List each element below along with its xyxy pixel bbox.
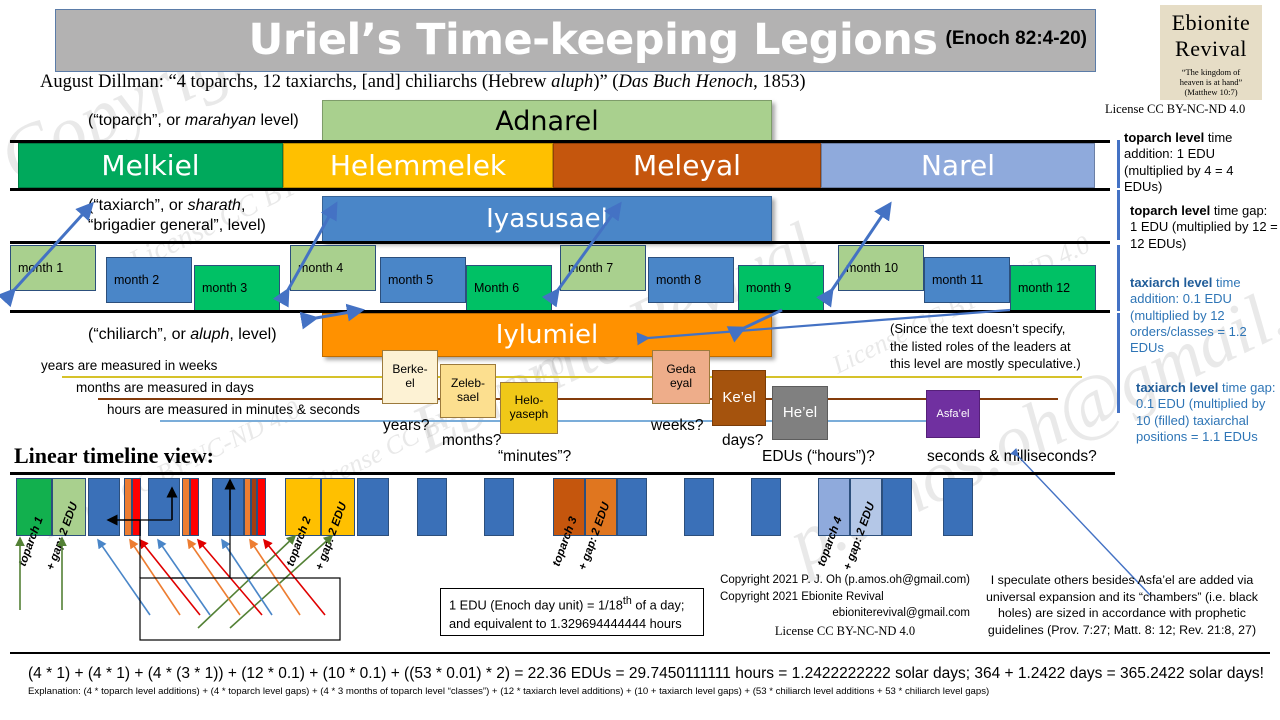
edu-definition-box: 1 EDU (Enoch day unit) = 1/18th of a day… bbox=[440, 588, 704, 636]
toparch-narel[interactable]: Narel bbox=[821, 143, 1095, 188]
dillman-citation: August Dillman: “4 toparchs, 12 taxiarch… bbox=[40, 72, 1100, 93]
leader-adnarel-label: Adnarel bbox=[495, 106, 598, 137]
toparch-helemmelek-label: Helemmelek bbox=[330, 149, 506, 182]
edu-line-1-sup: th bbox=[623, 595, 632, 607]
citation-suffix: , 1853) bbox=[753, 72, 805, 92]
page-title-banner: Uriel’s Time-keeping Legions (Enoch 82:4… bbox=[55, 9, 1096, 72]
toparch-melkiel[interactable]: Melkiel bbox=[18, 143, 283, 188]
toparch-label-italic: marahyan bbox=[185, 112, 256, 129]
toparch-gap-bracket bbox=[1117, 190, 1120, 240]
formula-explanation: Explanation: (4 * toparch level addition… bbox=[28, 686, 989, 697]
citation-middle: )” ( bbox=[593, 72, 618, 92]
title-scripture-reference: (Enoch 82:4-20) bbox=[946, 28, 1087, 54]
note-taxiarch-addition-title: taxiarch level bbox=[1130, 275, 1212, 290]
license-top: License CC BY-NC-ND 4.0 bbox=[1105, 102, 1245, 117]
toparch-narel-label: Narel bbox=[921, 149, 995, 182]
toparch-melkiel-label: Melkiel bbox=[101, 149, 199, 182]
copyright-line-3: ebioniterevival@gmail.com bbox=[720, 605, 970, 622]
edu-line-2: and equivalent to 1.329694444444 hours bbox=[449, 615, 695, 634]
copyright-line-1: Copyright 2021 P. J. Oh (p.amos.oh@gmail… bbox=[720, 572, 970, 589]
chiliarch-arrows bbox=[0, 300, 1120, 430]
toparch-meleyal-label: Meleyal bbox=[633, 149, 741, 182]
copyright-line-2: Copyright 2021 Ebionite Revival bbox=[720, 589, 970, 606]
edu-line-1a: 1 EDU (Enoch day unit) = 1/18 bbox=[449, 597, 623, 612]
formula-line: (4 * 1) + (4 * 1) + (4 * (3 * 1)) + (12 … bbox=[28, 665, 1264, 683]
note-taxiarch-gap-title: taxiarch level bbox=[1136, 380, 1218, 395]
toparch-label-pre: (“toparch”, or bbox=[88, 112, 185, 129]
toparch-label-post: level) bbox=[256, 112, 299, 129]
page-title: Uriel’s Time-keeping Legions bbox=[248, 19, 937, 62]
note-taxiarch-addition: taxiarch level time addition: 0.1 EDU (m… bbox=[1130, 275, 1278, 356]
copyright-license: License CC BY-NC-ND 4.0 bbox=[720, 622, 970, 640]
logo-tagline: “The kingdom of heaven is at hand” (Matt… bbox=[1160, 67, 1262, 97]
edu-line-1: 1 EDU (Enoch day unit) = 1/18th of a day… bbox=[449, 594, 695, 615]
toparch-meleyal[interactable]: Meleyal bbox=[553, 143, 821, 188]
note-toparch-addition-title: toparch level bbox=[1124, 130, 1204, 145]
leader-adnarel[interactable]: Adnarel bbox=[322, 100, 772, 142]
toparch-level-label: (“toparch”, or marahyan level) bbox=[88, 111, 299, 131]
note-toparch-gap: toparch level time gap: 1 EDU (multiplie… bbox=[1130, 203, 1278, 252]
logo-line-1: Ebionite bbox=[1160, 10, 1262, 36]
toparch-helemmelek[interactable]: Helemmelek bbox=[283, 143, 553, 188]
note-toparch-gap-title: toparch level bbox=[1130, 203, 1210, 218]
ebionite-revival-logo: Ebionite Revival “The kingdom of heaven … bbox=[1160, 5, 1262, 100]
citation-prefix: August Dillman: “4 toparchs, 12 taxiarch… bbox=[40, 72, 551, 92]
toparch-addition-bracket bbox=[1117, 140, 1120, 188]
speculation-note: I speculate others besides Asfa’el are a… bbox=[972, 572, 1272, 639]
taxiarch-gap-bracket bbox=[1117, 313, 1120, 413]
note-toparch-addition: toparch level time addition: 1 EDU (mult… bbox=[1124, 130, 1274, 195]
edu-line-1b: of a day; bbox=[632, 597, 685, 612]
logo-line-2: Revival bbox=[1160, 36, 1262, 62]
citation-book-title: Das Buch Henoch bbox=[618, 72, 753, 92]
citation-hebrew-word: aluph bbox=[551, 72, 593, 92]
taxiarch-addition-bracket bbox=[1117, 245, 1120, 311]
copyright-block: Copyright 2021 P. J. Oh (p.amos.oh@gmail… bbox=[720, 572, 970, 640]
note-taxiarch-gap: taxiarch level time gap: 0.1 EDU (multip… bbox=[1136, 380, 1280, 445]
